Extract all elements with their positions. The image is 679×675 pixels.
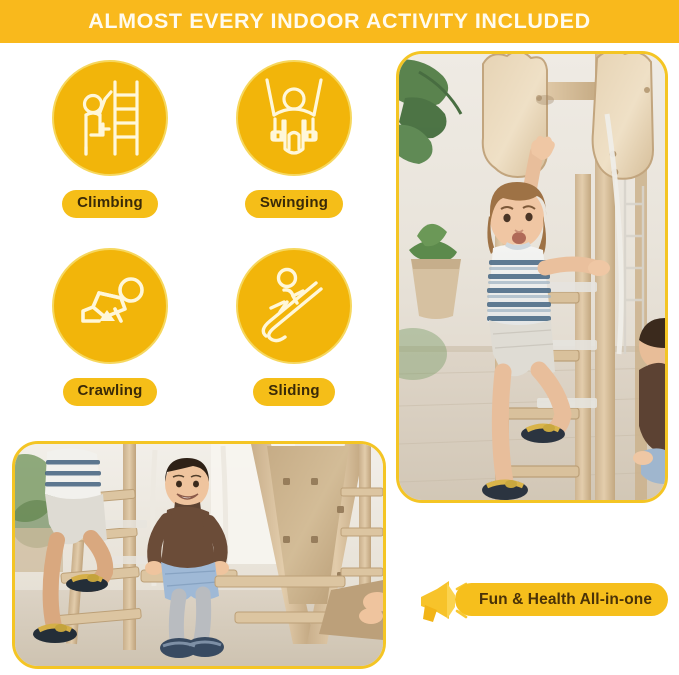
header-banner: ALMOST EVERY INDOOR ACTIVITY INCLUDED (0, 0, 679, 43)
product-photo-secondary (12, 441, 386, 669)
feature-label-climbing: Climbing (62, 190, 158, 218)
fun-health-pill: Fun & Health All-in-one (455, 583, 668, 616)
feature-item-crawling: Crawling (22, 242, 198, 422)
feature-label-sliding: Sliding (253, 378, 334, 406)
feature-item-climbing: Climbing (22, 54, 198, 234)
product-photo-main (396, 51, 668, 503)
product-photo-secondary-image (15, 444, 383, 666)
fun-health-badge: Fun & Health All-in-one (419, 578, 667, 620)
swinging-swing-icon (236, 60, 352, 176)
feature-grid: Climbing (18, 52, 383, 420)
feature-item-sliding: Sliding (206, 242, 382, 422)
sliding-slide-icon (236, 248, 352, 364)
page-title: ALMOST EVERY INDOOR ACTIVITY INCLUDED (88, 9, 590, 34)
product-photo-main-image (399, 54, 665, 500)
feature-item-swinging: Swinging (206, 54, 382, 234)
feature-label-crawling: Crawling (63, 378, 158, 406)
crawling-child-icon (52, 248, 168, 364)
climbing-ladder-icon (52, 60, 168, 176)
fun-health-label: Fun & Health All-in-one (479, 591, 652, 609)
feature-label-swinging: Swinging (245, 190, 343, 218)
